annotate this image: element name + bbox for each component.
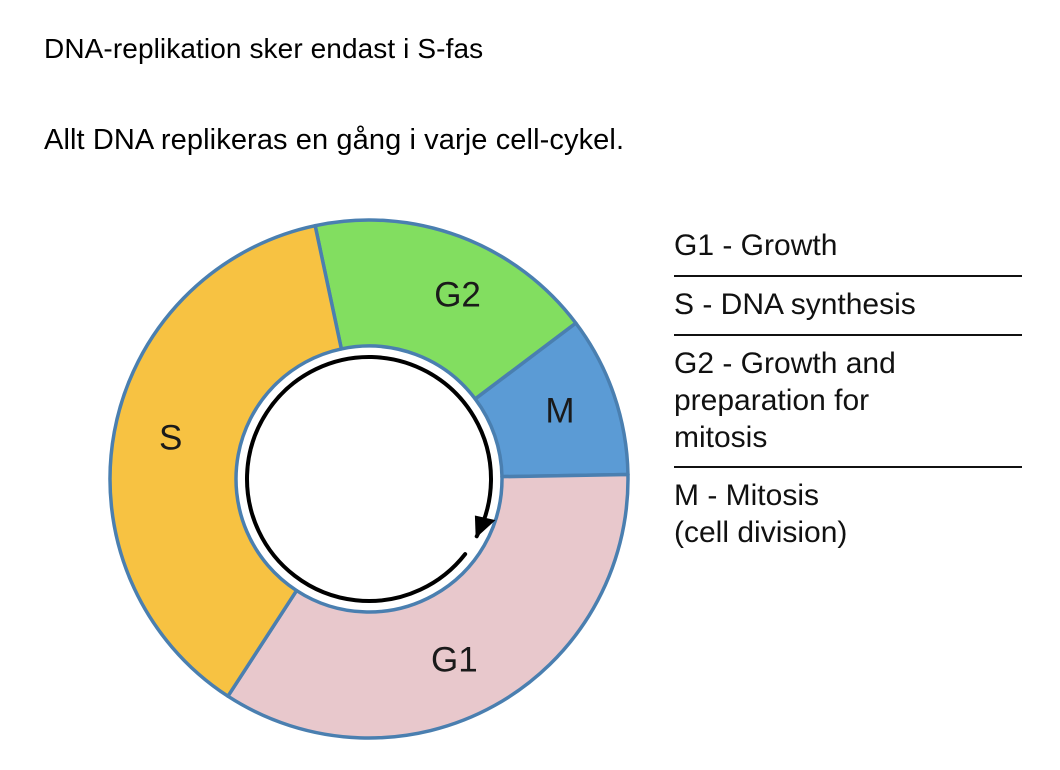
arrow-arc-path	[247, 357, 491, 601]
legend-entry-g2-text: G2 - Growth and preparation for mitosis	[674, 346, 1022, 457]
legend-entry-g1-text: G1 - Growth	[674, 228, 1022, 265]
donut-svg: G2 M G1 S	[98, 205, 643, 755]
legend-entry-m: M - Mitosis (cell division)	[674, 476, 1022, 558]
cell-cycle-donut-chart: G2 M G1 S	[98, 205, 643, 755]
legend-entry-s: S - DNA synthesis	[674, 285, 1022, 330]
legend-divider-3	[674, 466, 1022, 468]
legend-entry-g2: G2 - Growth and preparation for mitosis	[674, 344, 1022, 463]
legend-entry-s-text: S - DNA synthesis	[674, 287, 1022, 324]
slide-canvas: DNA-replikation sker endast i S-fas Allt…	[0, 0, 1060, 770]
donut-segments	[110, 220, 628, 738]
legend-entry-m-text: M - Mitosis (cell division)	[674, 478, 1022, 552]
legend-divider-1	[674, 275, 1022, 277]
legend-entry-g1: G1 - Growth	[674, 226, 1022, 271]
inner-cycle-arrow	[247, 357, 495, 601]
heading-line-2: Allt DNA replikeras en gång i varje cell…	[44, 124, 624, 157]
legend-divider-2	[674, 334, 1022, 336]
legend: G1 - Growth S - DNA synthesis G2 - Growt…	[674, 226, 1022, 558]
heading-line-1: DNA-replikation sker endast i S-fas	[44, 33, 483, 65]
